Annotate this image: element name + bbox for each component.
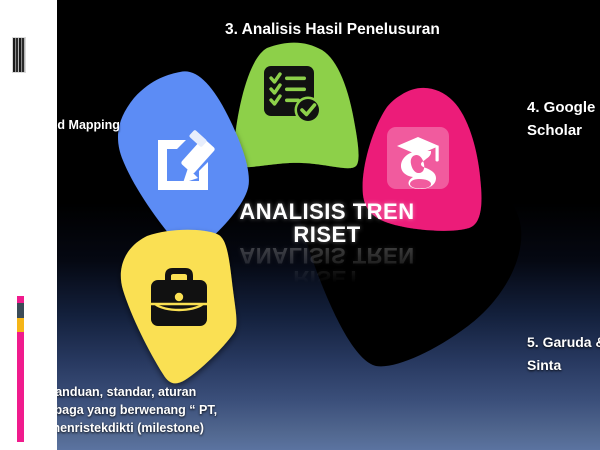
petal-4-google-scholar[interactable] (343, 83, 508, 248)
petal-5-label: 5. Garuda & Sinta (527, 331, 600, 377)
petal-4-label-line2: Scholar (527, 119, 600, 142)
petal-2-mind-mapping[interactable] (112, 68, 277, 253)
petal-1-label-line2: lembaga yang berwenang “ PT, (33, 401, 248, 419)
petal-1-label-line3: Kemenristekdikti (milestone) (33, 419, 248, 437)
petal-5-label-line2: Sinta (527, 354, 600, 377)
petal-4-label-line1: 4. Google (527, 96, 600, 119)
petal-1-label: 1. Panduan, standar, aturan lembaga yang… (33, 383, 248, 437)
barcode-mark-icon (13, 38, 25, 72)
petal-5-label-line1: 5. Garuda & (527, 331, 600, 354)
petal-3-label-text: 3. Analisis Hasil Penelusuran (225, 21, 440, 38)
petal-4-label: 4. Google Scholar (527, 96, 600, 142)
accent-segment-yellow (17, 318, 24, 332)
left-margin (0, 0, 57, 450)
petal-1-label-line1: 1. Panduan, standar, aturan (33, 383, 248, 401)
petal-3-label: 3. Analisis Hasil Penelusuran (225, 20, 440, 39)
slide-canvas: ANALISIS TREN RISET RISET ANALISIS TREN … (0, 0, 600, 450)
petal-1-panduan-standar-aturan[interactable] (107, 228, 267, 393)
google-scholar-g-icon (387, 127, 449, 189)
accent-segment-teal (17, 303, 24, 318)
